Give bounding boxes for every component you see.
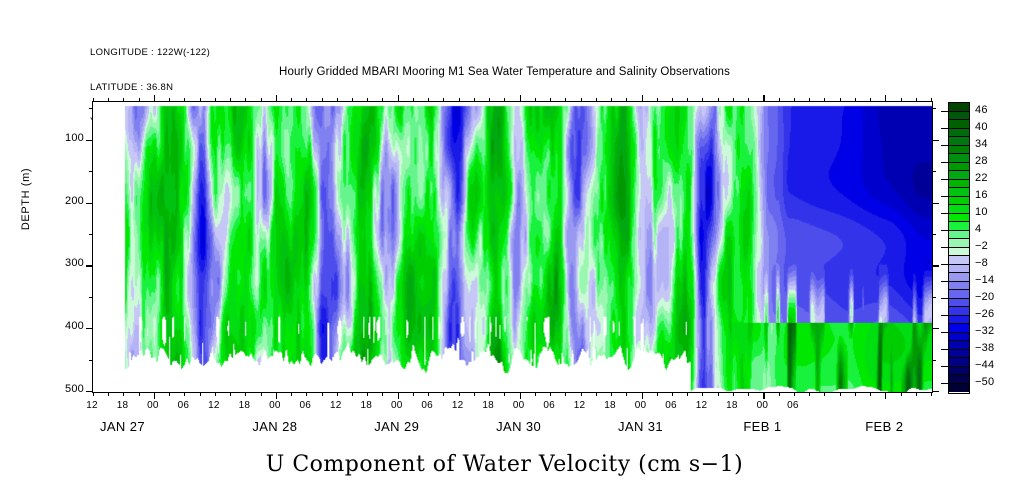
x-tick-major	[885, 95, 886, 102]
x-tick-minor	[718, 392, 719, 396]
plot-area	[92, 101, 933, 393]
x-tick-minor	[184, 392, 185, 396]
x-tick-minor	[459, 392, 460, 396]
colorbar-tick-mark	[941, 315, 948, 316]
colorbar-tick-label: 16	[975, 189, 988, 201]
colorbar-swatch	[949, 358, 969, 367]
colorbar-tick-label: 28	[975, 155, 988, 167]
x-axis-hour-label: 06	[534, 400, 564, 411]
x-tick-minor	[474, 98, 475, 102]
x-tick-minor	[413, 98, 414, 102]
y-tick-minor	[89, 234, 93, 235]
x-axis-hour-label: 06	[656, 400, 686, 411]
x-tick-major	[276, 95, 277, 102]
x-axis-hour-label: 12	[565, 400, 595, 411]
colorbar-swatch	[949, 214, 969, 223]
x-tick-minor	[565, 392, 566, 396]
x-tick-minor	[550, 98, 551, 102]
x-tick-minor	[855, 392, 856, 396]
colorbar-swatch	[949, 146, 969, 155]
colorbar-tick-mark	[941, 162, 948, 163]
x-tick-minor	[687, 98, 688, 102]
x-axis-hour-label: 18	[229, 400, 259, 411]
colorbar-swatch	[949, 367, 969, 376]
y-tick-minor	[89, 360, 93, 361]
x-tick-minor	[367, 392, 368, 396]
x-tick-minor	[596, 98, 597, 102]
x-tick-minor	[748, 98, 749, 102]
colorbar-swatch	[949, 197, 969, 206]
x-tick-minor	[794, 392, 795, 396]
x-tick-minor	[855, 98, 856, 102]
colorbar-swatch	[949, 137, 969, 146]
x-tick-major	[154, 392, 155, 399]
x-tick-minor	[184, 98, 185, 102]
x-axis-hour-label: 12	[199, 400, 229, 411]
x-axis-hour-label: 12	[686, 400, 716, 411]
y-tick-minor	[932, 171, 936, 172]
colorbar-tick-mark	[941, 247, 948, 248]
colorbar-swatch	[949, 375, 969, 384]
y-tick-minor	[932, 360, 936, 361]
x-tick-minor	[702, 98, 703, 102]
x-tick-minor	[123, 98, 124, 102]
colorbar-tick-label: −2	[975, 240, 988, 252]
colorbar-swatch	[949, 273, 969, 282]
x-tick-minor	[230, 98, 231, 102]
x-tick-minor	[718, 98, 719, 102]
y-tick-minor	[89, 108, 93, 109]
colorbar-tick-label: −8	[975, 257, 988, 269]
velocity-heatmap	[93, 102, 932, 392]
colorbar-swatch	[949, 282, 969, 291]
colorbar-tick-mark	[941, 332, 948, 333]
x-tick-minor	[245, 98, 246, 102]
y-tick-major	[932, 203, 939, 204]
x-axis-hour-label: 06	[778, 400, 808, 411]
x-axis-hour-label: 12	[77, 400, 107, 411]
x-tick-minor	[352, 392, 353, 396]
x-tick-minor	[901, 392, 902, 396]
x-tick-minor	[108, 392, 109, 396]
y-tick-major	[932, 391, 939, 392]
colorbar-tick-mark	[941, 298, 948, 299]
y-tick-major	[86, 328, 93, 329]
x-tick-minor	[672, 98, 673, 102]
colorbar-tick-label: 40	[975, 121, 988, 133]
y-tick-minor	[932, 234, 936, 235]
x-axis-day-label: JAN 31	[586, 419, 696, 434]
x-tick-minor	[93, 392, 94, 396]
x-tick-minor	[352, 98, 353, 102]
x-tick-minor	[672, 392, 673, 396]
x-axis-hour-label: 00	[504, 400, 534, 411]
y-axis-tick-label: 100	[40, 132, 84, 144]
colorbar-swatch	[949, 180, 969, 189]
y-axis-title: DEPTH (m)	[20, 168, 32, 230]
x-tick-minor	[123, 392, 124, 396]
colorbar-tick-label: −14	[975, 274, 994, 286]
colorbar-swatch	[949, 333, 969, 342]
x-tick-major	[520, 392, 521, 399]
colorbar-swatch	[949, 171, 969, 180]
x-tick-minor	[596, 392, 597, 396]
colorbar-tick-mark	[941, 264, 948, 265]
x-tick-minor	[581, 98, 582, 102]
x-axis-hour-label: 18	[473, 400, 503, 411]
colorbar-tick-mark	[941, 230, 948, 231]
x-axis-hour-label: 06	[290, 400, 320, 411]
x-tick-minor	[443, 98, 444, 102]
x-tick-minor	[139, 98, 140, 102]
x-tick-minor	[337, 98, 338, 102]
x-tick-minor	[382, 392, 383, 396]
x-tick-minor	[779, 98, 780, 102]
colorbar-swatch	[949, 112, 969, 121]
x-tick-minor	[215, 392, 216, 396]
colorbar-swatch	[949, 350, 969, 359]
x-tick-minor	[916, 98, 917, 102]
x-tick-minor	[322, 98, 323, 102]
x-tick-minor	[230, 392, 231, 396]
x-tick-minor	[840, 392, 841, 396]
x-tick-minor	[306, 392, 307, 396]
x-tick-minor	[413, 392, 414, 396]
x-tick-minor	[824, 98, 825, 102]
colorbar-tick-label: −32	[975, 325, 994, 337]
colorbar-swatch	[949, 324, 969, 333]
x-axis-hour-label: 00	[138, 400, 168, 411]
x-axis-hour-label: 18	[595, 400, 625, 411]
colorbar-tick-label: −26	[975, 308, 994, 320]
x-axis-hour-label: 18	[717, 400, 747, 411]
x-tick-minor	[428, 98, 429, 102]
x-tick-major	[398, 392, 399, 399]
colorbar-tick-label: 46	[975, 104, 988, 116]
y-axis-tick-label: 500	[40, 383, 84, 395]
y-tick-major	[86, 391, 93, 392]
colorbar-tick-label: −20	[975, 291, 994, 303]
x-tick-minor	[870, 392, 871, 396]
colorbar-swatch	[949, 129, 969, 138]
colorbar-swatch	[949, 384, 969, 393]
colorbar-tick-mark	[941, 349, 948, 350]
x-tick-minor	[626, 392, 627, 396]
colorbar-swatch	[949, 316, 969, 325]
x-tick-minor	[169, 392, 170, 396]
y-tick-major	[86, 203, 93, 204]
x-tick-minor	[459, 98, 460, 102]
x-tick-minor	[306, 98, 307, 102]
colorbar-tick-mark	[941, 111, 948, 112]
x-tick-minor	[215, 98, 216, 102]
x-tick-minor	[489, 98, 490, 102]
x-tick-minor	[733, 98, 734, 102]
y-axis-tick-label: 400	[40, 320, 84, 332]
x-axis-day-label: JAN 30	[464, 419, 574, 434]
colorbar-tick-mark	[941, 128, 948, 129]
colorbar-swatch	[949, 299, 969, 308]
x-axis-hour-label: 00	[747, 400, 777, 411]
x-axis-day-label: FEB 1	[707, 419, 817, 434]
x-axis-hour-label: 06	[412, 400, 442, 411]
x-tick-minor	[535, 98, 536, 102]
x-axis-hour-label: 18	[351, 400, 381, 411]
x-tick-major	[154, 95, 155, 102]
x-tick-minor	[931, 392, 932, 396]
x-tick-minor	[794, 98, 795, 102]
colorbar-swatch	[949, 341, 969, 350]
x-tick-major	[642, 392, 643, 399]
x-tick-minor	[139, 392, 140, 396]
y-tick-major	[86, 265, 93, 266]
colorbar-swatch	[949, 231, 969, 240]
x-tick-minor	[382, 98, 383, 102]
x-axis-day-label: JAN 28	[220, 419, 330, 434]
x-axis-day-label: JAN 29	[342, 419, 452, 434]
x-tick-minor	[824, 392, 825, 396]
x-tick-minor	[489, 392, 490, 396]
x-tick-minor	[504, 98, 505, 102]
chart-title: Hourly Gridded MBARI Mooring M1 Sea Wate…	[0, 66, 1009, 78]
x-axis-hour-label: 12	[321, 400, 351, 411]
x-axis-hour-label: 00	[382, 400, 412, 411]
colorbar-swatch	[949, 103, 969, 112]
colorbar-swatch	[949, 163, 969, 172]
x-tick-minor	[261, 98, 262, 102]
y-axis-tick-label: 200	[40, 195, 84, 207]
x-tick-minor	[809, 392, 810, 396]
colorbar-tick-mark	[941, 196, 948, 197]
x-tick-minor	[245, 392, 246, 396]
x-tick-minor	[169, 98, 170, 102]
colorbar-swatch	[949, 154, 969, 163]
x-axis-day-label: JAN 27	[67, 419, 177, 434]
y-tick-minor	[89, 297, 93, 298]
x-tick-minor	[550, 392, 551, 396]
colorbar-swatch	[949, 290, 969, 299]
x-tick-major	[276, 392, 277, 399]
colorbar-swatch	[949, 188, 969, 197]
x-tick-minor	[261, 392, 262, 396]
colorbar-tick-mark	[941, 179, 948, 180]
colorbar-swatch	[949, 205, 969, 214]
x-tick-minor	[626, 98, 627, 102]
colorbar-tick-mark	[941, 281, 948, 282]
x-tick-minor	[337, 392, 338, 396]
y-tick-major	[932, 140, 939, 141]
x-tick-minor	[93, 98, 94, 102]
colorbar-tick-label: −50	[975, 376, 994, 388]
x-tick-minor	[108, 98, 109, 102]
colorbar-tick-label: −38	[975, 342, 994, 354]
colorbar-tick-label: −44	[975, 359, 994, 371]
x-tick-minor	[931, 98, 932, 102]
y-tick-minor	[932, 297, 936, 298]
x-tick-minor	[581, 392, 582, 396]
x-tick-minor	[840, 98, 841, 102]
x-tick-major	[520, 95, 521, 102]
colorbar-tick-mark	[941, 145, 948, 146]
y-tick-major	[932, 328, 939, 329]
x-tick-minor	[870, 98, 871, 102]
x-tick-major	[885, 392, 886, 399]
x-tick-major	[763, 95, 764, 102]
x-tick-minor	[748, 392, 749, 396]
colorbar-tick-label: 22	[975, 172, 988, 184]
x-tick-minor	[291, 98, 292, 102]
x-tick-minor	[916, 392, 917, 396]
x-tick-minor	[535, 392, 536, 396]
x-axis-hour-label: 00	[626, 400, 656, 411]
x-tick-minor	[611, 392, 612, 396]
colorbar-swatch	[949, 120, 969, 129]
colorbar-swatch	[949, 256, 969, 265]
x-tick-minor	[200, 98, 201, 102]
x-tick-minor	[322, 392, 323, 396]
x-axis-hour-label: 12	[443, 400, 473, 411]
x-axis-hour-label: 18	[107, 400, 137, 411]
x-tick-minor	[733, 392, 734, 396]
x-tick-minor	[565, 98, 566, 102]
colorbar-tick-mark	[941, 366, 948, 367]
y-tick-major	[86, 140, 93, 141]
y-tick-minor	[932, 108, 936, 109]
x-tick-major	[642, 95, 643, 102]
x-tick-minor	[428, 392, 429, 396]
x-tick-minor	[611, 98, 612, 102]
x-axis-hour-label: 00	[260, 400, 290, 411]
colorbar-swatch	[949, 265, 969, 274]
x-tick-major	[398, 95, 399, 102]
x-tick-minor	[779, 392, 780, 396]
x-axis-day-label: FEB 2	[829, 419, 939, 434]
colorbar-swatch	[949, 307, 969, 316]
x-tick-minor	[474, 392, 475, 396]
colorbar-tick-label: 34	[975, 138, 988, 150]
colorbar-swatch	[949, 239, 969, 248]
x-tick-minor	[291, 392, 292, 396]
y-axis-tick-label: 300	[40, 257, 84, 269]
longitude-text: LONGITUDE : 122W(-122)	[90, 47, 210, 59]
colorbar-tick-label: 4	[975, 223, 981, 235]
x-tick-minor	[657, 392, 658, 396]
x-tick-minor	[809, 98, 810, 102]
x-tick-minor	[367, 98, 368, 102]
x-axis-hour-label: 06	[168, 400, 198, 411]
colorbar-tick-mark	[941, 383, 948, 384]
x-tick-minor	[657, 98, 658, 102]
x-tick-minor	[702, 392, 703, 396]
x-tick-minor	[443, 392, 444, 396]
x-tick-minor	[200, 392, 201, 396]
x-tick-major	[763, 392, 764, 399]
y-tick-minor	[89, 171, 93, 172]
colorbar-tick-mark	[941, 213, 948, 214]
colorbar	[948, 102, 970, 394]
x-tick-minor	[687, 392, 688, 396]
plot-variable-title: U Component of Water Velocity (cm s−1)	[0, 452, 1009, 477]
colorbar-swatch	[949, 248, 969, 257]
colorbar-swatch	[949, 222, 969, 231]
x-tick-minor	[901, 98, 902, 102]
x-tick-minor	[504, 392, 505, 396]
y-tick-major	[932, 265, 939, 266]
colorbar-tick-label: 10	[975, 206, 988, 218]
latitude-text: LATITUDE : 36.8N	[90, 82, 210, 94]
